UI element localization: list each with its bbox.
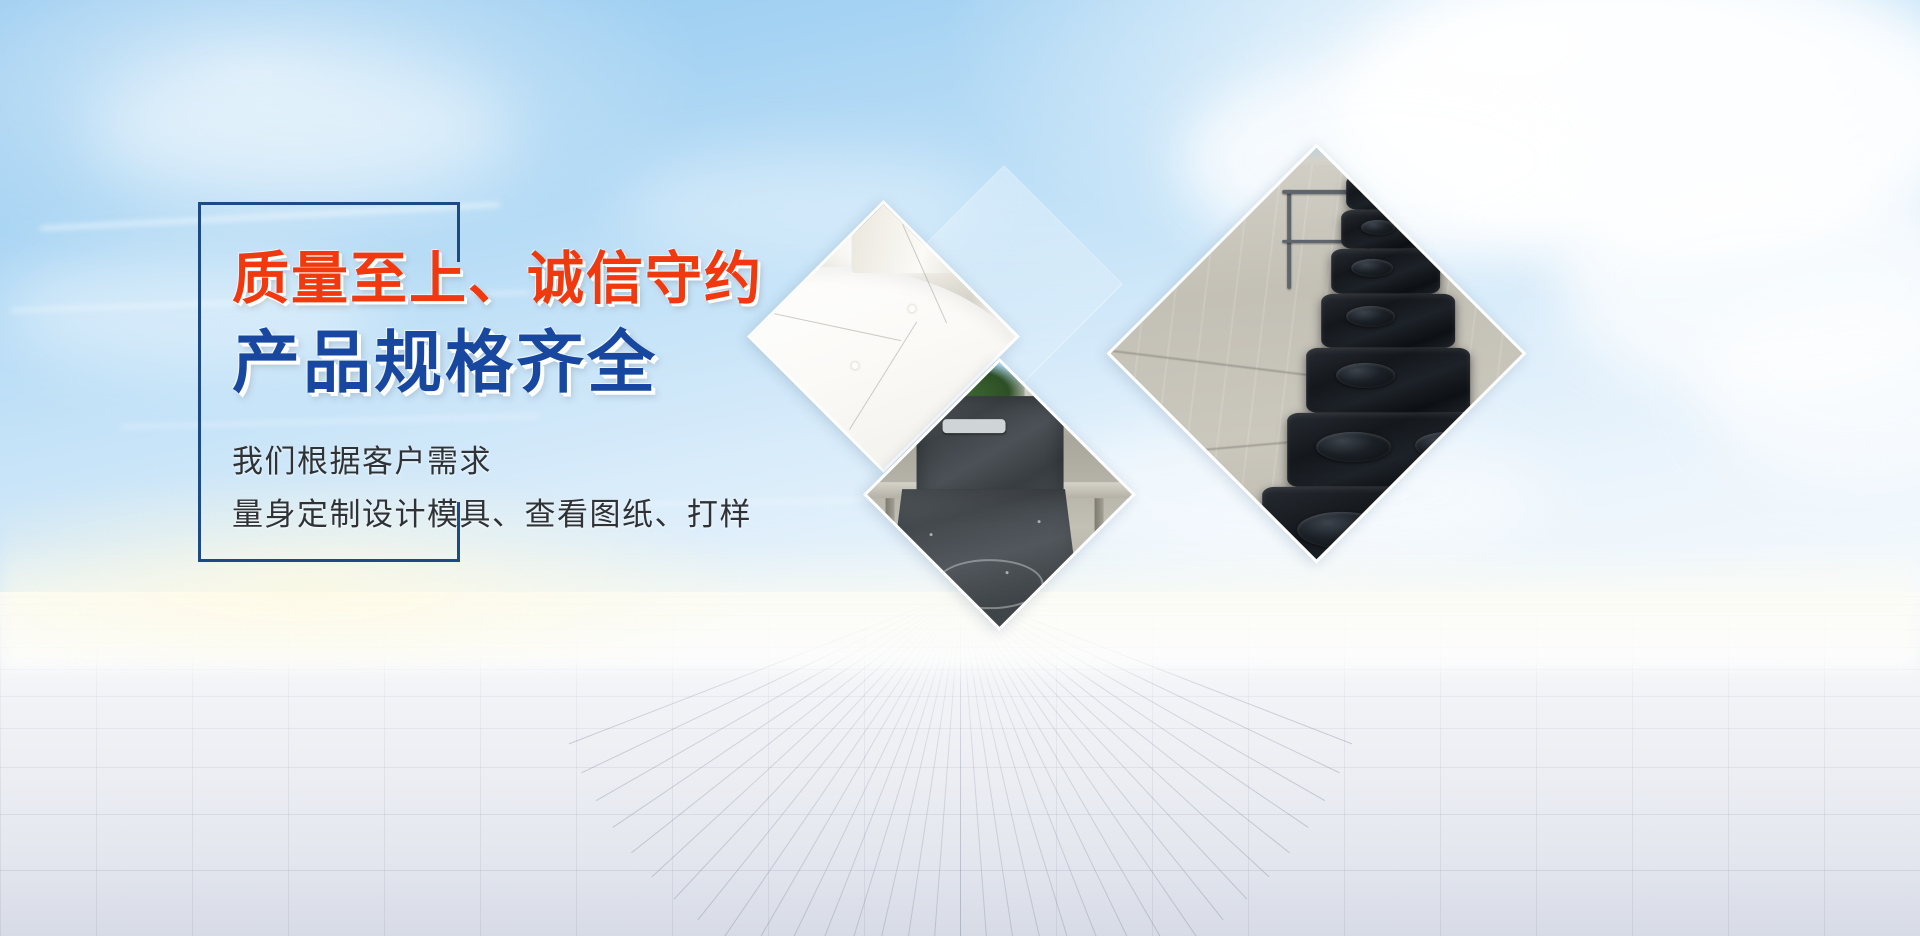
tank-lid [1317, 433, 1391, 463]
plaza-tile-line [0, 767, 1920, 768]
photo-row-of-black-septic-tanks [1106, 143, 1526, 563]
plaza-tile-line [0, 728, 1920, 729]
subtitle-line-2: 量身定制设计模具、查看图纸、打样 [232, 488, 1132, 541]
tank-lid [1361, 220, 1396, 235]
headline-primary: 质量至上、诚信守约 [232, 248, 1132, 312]
frame-edge-left [198, 202, 201, 562]
subtitle-line-1: 我们根据客户需求 [232, 435, 1132, 488]
subtitle-block: 我们根据客户需求 量身定制设计模具、查看图纸、打样 [232, 435, 1132, 542]
frame-edge-top [198, 202, 460, 205]
banner-copy-block: 质量至上、诚信守约 产品规格齐全 我们根据客户需求 量身定制设计模具、查看图纸、… [232, 248, 1132, 541]
frame-edge-bottom [198, 559, 460, 562]
cloud-shape [90, 60, 510, 200]
plaza-tile-line [0, 696, 1920, 697]
diamond-clip [1106, 143, 1526, 563]
surface-speck [1006, 571, 1009, 574]
headline-secondary: 产品规格齐全 [232, 326, 1132, 401]
banner-stage: 质量至上、诚信守约 产品规格齐全 我们根据客户需求 量身定制设计模具、查看图纸、… [0, 0, 1920, 936]
photo-diamond-black-tanks-row [1168, 205, 1465, 502]
plaza-tile-line [0, 870, 1920, 871]
plaza-tile-line [0, 814, 1920, 815]
